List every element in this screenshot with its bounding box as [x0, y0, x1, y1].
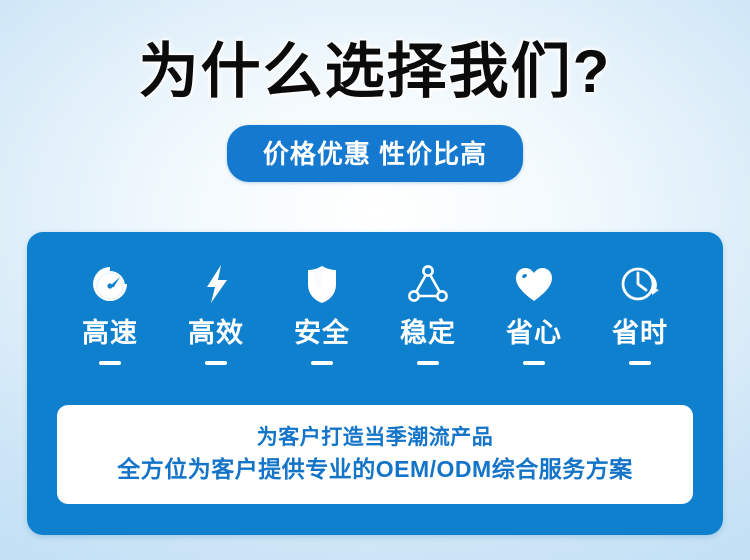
speedometer-icon: [88, 260, 132, 308]
feature-underline: [523, 361, 545, 365]
feature-underline: [417, 361, 439, 365]
feature-item-high-speed[interactable]: 高速: [57, 260, 163, 365]
heart-icon: [512, 260, 556, 308]
feature-item-safety[interactable]: 安全: [269, 260, 375, 365]
feature-item-time-saving[interactable]: 省时: [587, 260, 693, 365]
feature-label: 安全: [294, 320, 350, 347]
shield-icon: [300, 260, 344, 308]
network-triangle-icon: [406, 260, 450, 308]
feature-panel: 高速 高效 安全: [27, 232, 723, 535]
features-row: 高速 高效 安全: [27, 260, 723, 365]
feature-label: 稳定: [400, 320, 456, 347]
feature-item-worry-free[interactable]: 省心: [481, 260, 587, 365]
summary-line-1: 为客户打造当季潮流产品: [257, 425, 494, 451]
page-title: 为什么选择我们?: [0, 40, 750, 105]
feature-underline: [99, 361, 121, 365]
feature-underline: [311, 361, 333, 365]
feature-item-high-efficiency[interactable]: 高效: [163, 260, 269, 365]
subtitle-badge: 价格优惠 性价比高: [227, 125, 523, 182]
feature-label: 省心: [506, 320, 562, 347]
header: 为什么选择我们? 价格优惠 性价比高: [0, 0, 750, 182]
feature-item-stability[interactable]: 稳定: [375, 260, 481, 365]
summary-card: 为客户打造当季潮流产品 全方位为客户提供专业的OEM/ODM综合服务方案: [57, 405, 693, 504]
feature-label: 高效: [188, 320, 244, 347]
feature-label: 省时: [612, 320, 668, 347]
feature-underline: [205, 361, 227, 365]
lightning-bolt-icon: [194, 260, 238, 308]
clock-history-icon: [618, 260, 662, 308]
feature-label: 高速: [82, 320, 138, 347]
summary-line-2: 全方位为客户提供专业的OEM/ODM综合服务方案: [117, 455, 632, 484]
feature-underline: [629, 361, 651, 365]
